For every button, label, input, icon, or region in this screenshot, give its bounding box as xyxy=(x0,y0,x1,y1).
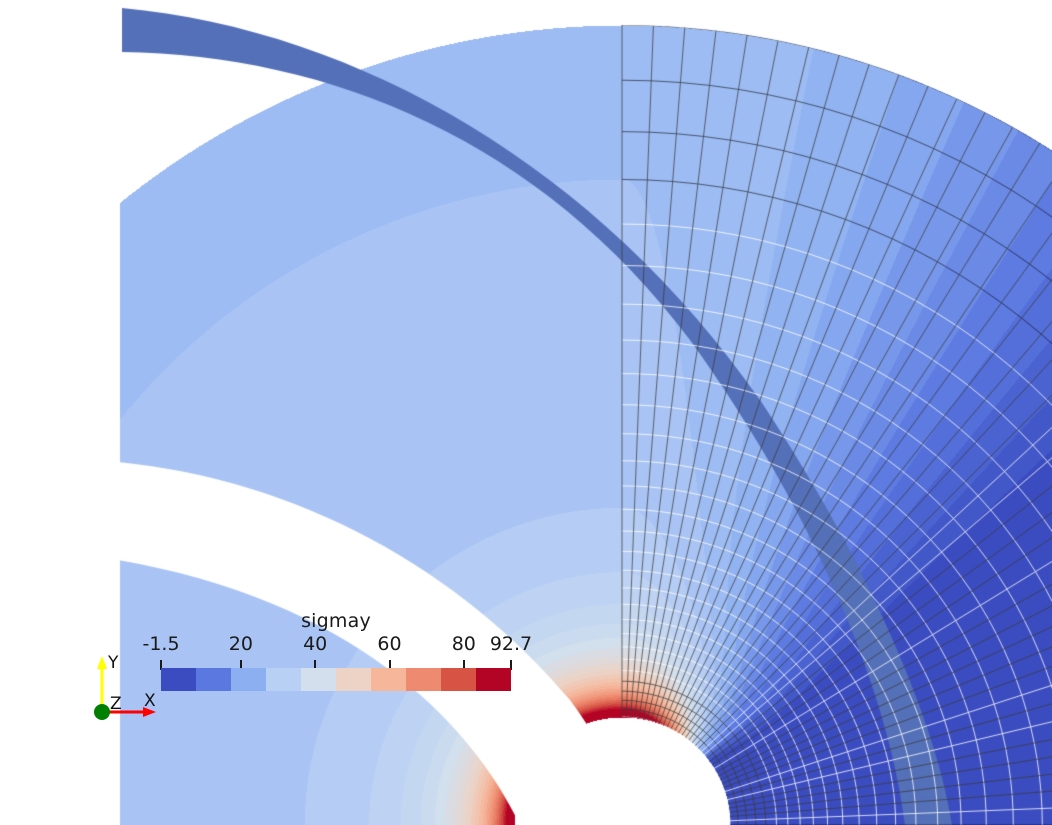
color-legend-swatch xyxy=(406,668,441,691)
z-axis-label: Z xyxy=(110,694,122,714)
color-legend-swatch xyxy=(301,668,336,691)
color-legend-tick-label: 20 xyxy=(229,633,253,655)
color-legend-swatch xyxy=(441,668,476,691)
render-viewport[interactable]: sigmay -1.52040608092.7 Y X Z xyxy=(0,0,1052,825)
y-axis-label: Y xyxy=(107,653,119,673)
color-legend-swatch xyxy=(196,668,231,691)
color-legend-swatch xyxy=(231,668,266,691)
y-axis-arrow-icon xyxy=(97,656,107,669)
orientation-axes-triad[interactable]: Y X Z xyxy=(88,652,170,732)
color-legend-tick-label: 80 xyxy=(452,633,476,655)
color-legend-title: sigmay xyxy=(161,610,511,632)
color-legend-bar[interactable] xyxy=(161,668,511,691)
color-legend-swatch xyxy=(371,668,406,691)
color-legend-tick-label: 92.7 xyxy=(490,633,532,655)
color-legend-swatch xyxy=(266,668,301,691)
color-legend-swatch xyxy=(336,668,371,691)
z-axis-origin-icon xyxy=(94,704,110,720)
color-legend-tick-label: 60 xyxy=(377,633,401,655)
x-axis-label: X xyxy=(144,691,156,711)
color-legend-tick-label: 40 xyxy=(303,633,327,655)
color-legend-swatch xyxy=(476,668,511,691)
color-legend-tick-labels: -1.52040608092.7 xyxy=(161,633,511,657)
